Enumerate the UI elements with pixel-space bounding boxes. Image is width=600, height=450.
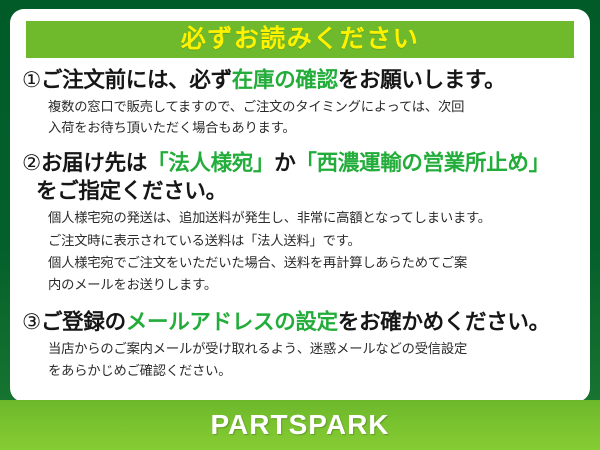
- notice-item-list: ①ご注文前には、必ず在庫の確認をお願いします。 複数の窓口で販売してますので、ご…: [10, 67, 590, 383]
- notice-item-2-heading: ②お届け先は「法人様宛」か「西濃運輸の営業所止め」: [22, 150, 578, 178]
- notice-item-3: ③ご登録のメールアドレスの設定をお確かめください。 当店からのご案内メールが受け…: [22, 309, 578, 381]
- notice-item-3-heading-suffix: をお確かめください。: [338, 310, 550, 334]
- notice-item-1-heading-prefix: ご注文前には、必ず: [41, 68, 232, 92]
- notice-item-2-subtext-line-3: 個人様宅宛でご注文をいただいた場合、送料を再計算しあらためてご案: [22, 254, 578, 272]
- notice-card: 必ずお読みください ①ご注文前には、必ず在庫の確認をお願いします。 複数の窓口で…: [0, 0, 600, 450]
- page-title: 必ずお読みください: [181, 27, 420, 52]
- notice-item-2: ②お届け先は「法人様宛」か「西濃運輸の営業所止め」 をご指定ください。 個人様宅…: [22, 150, 578, 294]
- notice-item-2-heading-middle: か: [274, 151, 295, 175]
- notice-item-3-subtext-line-2: をあらかじめご確認ください。: [22, 362, 578, 380]
- notice-item-2-subtext-line-1: 個人様宅宛の発送は、追加送料が発生し、非常に高額となってしまいます。: [22, 209, 578, 227]
- footer-brand-bar: PARTSPARK: [0, 400, 600, 450]
- notice-item-3-heading-prefix: ご登録の: [41, 310, 126, 334]
- brand-logo-text: PARTSPARK: [210, 409, 389, 441]
- notice-item-3-heading-highlight: メールアドレスの設定: [126, 310, 338, 334]
- header-banner: 必ずお読みください: [26, 21, 574, 58]
- notice-item-2-subtext-line-2: ご注文時に表示されている送料は「法人送料」です。: [22, 232, 578, 250]
- notice-item-2-number: ②: [22, 151, 41, 175]
- notice-item-1-subtext-line-2: 入荷をお待ち頂いただく場合もあります。: [22, 119, 578, 137]
- notice-item-1: ①ご注文前には、必ず在庫の確認をお願いします。 複数の窓口で販売してますので、ご…: [22, 67, 578, 137]
- notice-item-3-heading: ③ご登録のメールアドレスの設定をお確かめください。: [22, 309, 578, 337]
- notice-panel: 必ずお読みください ①ご注文前には、必ず在庫の確認をお願いします。 複数の窓口で…: [10, 9, 590, 402]
- notice-item-2-heading-prefix: お届け先は: [41, 151, 147, 175]
- notice-item-2-subtext-line-4: 内のメールをお送りします。: [22, 276, 578, 294]
- notice-item-3-subtext-line-1: 当店からのご案内メールが受け取れるよう、迷惑メールなどの受信設定: [22, 340, 578, 358]
- notice-item-1-heading: ①ご注文前には、必ず在庫の確認をお願いします。: [22, 67, 578, 95]
- notice-item-3-number: ③: [22, 310, 41, 334]
- notice-item-1-number: ①: [22, 68, 41, 92]
- notice-item-2-heading-highlight-2: 「西濃運輸の営業所止め」: [295, 151, 549, 175]
- notice-item-1-heading-suffix: をお願いします。: [338, 68, 505, 92]
- notice-item-2-heading-line-2: をご指定ください。: [22, 178, 578, 206]
- notice-item-1-heading-highlight: 在庫の確認: [232, 68, 338, 92]
- notice-item-2-heading-highlight: 「法人様宛」: [147, 151, 274, 175]
- notice-item-1-subtext-line-1: 複数の窓口で販売してますので、ご注文のタイミングによっては、次回: [22, 98, 578, 116]
